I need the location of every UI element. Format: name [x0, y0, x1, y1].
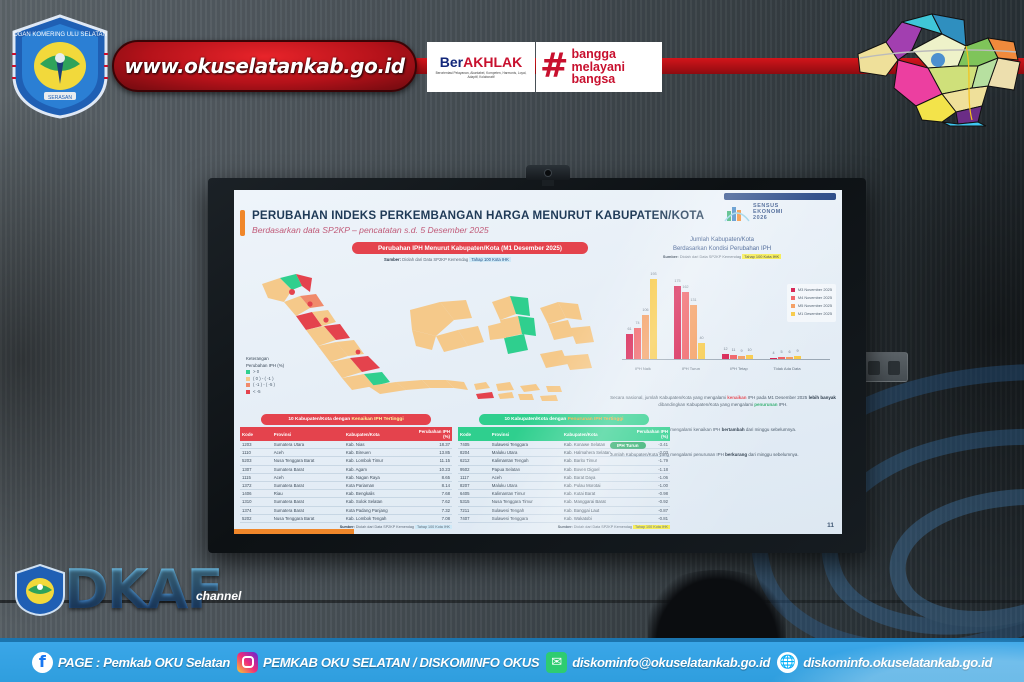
column-header: Perubahan IPH (%): [414, 427, 452, 441]
table-cell: Kab. Barito Timur: [562, 457, 632, 465]
table-cell: 8204: [458, 449, 490, 457]
table-cell: Aceh: [272, 473, 344, 481]
chart-legend-label: M4 November 2025: [798, 295, 832, 300]
chart-source-note: Sumber: Diolah dari Data SP2KP Kemendag …: [606, 254, 838, 259]
chart-legend-item: M4 November 2025: [791, 295, 832, 300]
contact-instagram[interactable]: PEMKAB OKU SELATAN / DISKOMINFO OKUS: [237, 652, 539, 673]
bar-value-label: 12: [723, 347, 727, 351]
bar-group: 1211910: [722, 354, 753, 359]
bar-value-label: 4: [772, 351, 774, 355]
right-data-table: KodeProvinsiKabupaten/KotaPerubahan IPH …: [458, 427, 670, 523]
wall-shadow-left: [0, 90, 210, 630]
chart-title: Jumlah Kabupaten/Kota Berdasarkan Kondis…: [606, 236, 838, 253]
table-row: 7405Sulawesi TenggaraKab. Konawe Selatan…: [458, 441, 670, 449]
table-cell: Kab. Nagan Raya: [344, 473, 414, 481]
legend-swatch: [246, 390, 250, 394]
table-cell: Sumatera Barat: [272, 498, 344, 506]
globe-icon: 🌐: [777, 652, 798, 673]
bar-value-label: 106: [642, 308, 648, 312]
legend-swatch: [246, 383, 250, 387]
tv-bezel: PERUBAHAN INDEKS PERKEMBANGAN HARGA MENU…: [208, 178, 866, 553]
chart-bar: 175: [674, 286, 681, 359]
indonesia-choropleth-map: [240, 268, 600, 408]
table-cell: 1374: [240, 506, 272, 514]
chart-bar: 9: [794, 356, 801, 360]
chart-bar: 6: [786, 357, 793, 360]
table-cell: Papua Selatan: [490, 465, 562, 473]
table-cell: 9502: [458, 465, 490, 473]
power-outlet: [860, 352, 908, 382]
table-cell: Kab. Boven Digoel: [562, 465, 632, 473]
table-left-caption: 10 Kabupaten/Kota dengan Kenaikan IPH Te…: [261, 414, 431, 425]
bar-value-label: 11: [732, 348, 736, 352]
website-url-text: www.okuselatankab.go.id: [124, 54, 404, 78]
chart-legend-label: M1 Desember 2025: [798, 311, 832, 316]
table-cell: Kab. Lombok Timur: [344, 457, 414, 465]
berakhlak-title: BerAKHLAK: [440, 55, 522, 69]
table-cell: 1406: [240, 490, 272, 498]
table-cell: Sumatera Utara: [272, 441, 344, 449]
sensus-ekonomi-logo: SENSUS EKONOMI 2026: [724, 194, 836, 224]
table-cell: Kab. Halmahera Selatan: [562, 449, 632, 457]
table-cell: 5202: [240, 514, 272, 522]
bar-value-label: 131: [690, 298, 696, 302]
table-cell: -1.79: [632, 457, 670, 465]
map-legend: Keterangan Perubahan IPH (%) > 0 ( 0 ) -…: [246, 356, 284, 395]
table-cell: 5315: [458, 498, 490, 506]
map-source-note: Sumber: Diolah dari Data SP2KP Kemendag …: [384, 257, 511, 262]
svg-text:OGAN KOMERING ULU SELATAN: OGAN KOMERING ULU SELATAN: [13, 32, 107, 38]
table-cell: -0.98: [632, 490, 670, 498]
chart-plot-area: M3 November 2025M4 November 2025M5 Novem…: [606, 262, 838, 380]
table-cell: 1372: [240, 481, 272, 489]
table-cell: 8.14: [414, 481, 452, 489]
top-banner: OGAN KOMERING ULU SELATAN SERASAN www.ok…: [0, 0, 1024, 128]
table-cell: 5203: [240, 457, 272, 465]
chart-bar: 10: [746, 355, 753, 359]
table-row: 1406RiauKab. Bengkalis7.68: [240, 490, 452, 498]
chart-bar: 11: [730, 355, 737, 360]
table-cell: Sulawesi Tenggara: [490, 514, 562, 522]
table-header-row: KodeProvinsiKabupaten/KotaPerubahan IPH …: [240, 427, 452, 441]
table-cell: 1307: [240, 465, 272, 473]
table-cell: -1.00: [632, 481, 670, 489]
chart-x-axis: [622, 359, 830, 360]
contact-website[interactable]: 🌐 diskominfo.okuselatankab.go.id: [777, 652, 992, 673]
chart-bar: 131: [690, 305, 697, 360]
table-cell: 1110: [240, 449, 272, 457]
table-cell: 7.32: [414, 506, 452, 514]
presentation-slide: PERUBAHAN INDEKS PERKEMBANGAN HARGA MENU…: [234, 190, 842, 534]
table-row: 6405Kalimantan TimurKab. Kutai Barat-0.9…: [458, 490, 670, 498]
table-cell: Kalimantan Timur: [490, 490, 562, 498]
dkaf-channel-label: channel: [196, 589, 241, 603]
chart-legend: M3 November 2025M4 November 2025M5 Novem…: [787, 284, 836, 322]
table-cell: Kalimantan Tengah: [490, 457, 562, 465]
bar-value-label: 9: [796, 349, 798, 353]
table-cell: Kota Padang Panjang: [344, 506, 414, 514]
bar-value-label: 6: [788, 350, 790, 354]
slide-bottom-accent: [234, 529, 354, 534]
berakhlak-logo: BerAKHLAK Berorientasi Pelayanan, Akunta…: [427, 42, 535, 92]
table-penurunan-iph: 10 Kabupaten/Kota dengan Penurunan IPH T…: [458, 414, 670, 529]
right-table-body: 7405Sulawesi TenggaraKab. Konawe Selatan…: [458, 441, 670, 522]
bottom-contact-banner: f PAGE : Pemkab OKU Selatan PEMKAB OKU S…: [0, 638, 1024, 682]
column-header: Provinsi: [490, 427, 562, 441]
dkaf-channel-watermark: DKAF channel: [8, 556, 294, 618]
table-row: 5203Nusa Tenggara BaratKab. Lombok Timur…: [240, 457, 452, 465]
chart-legend-swatch: [791, 312, 795, 316]
website-label: diskominfo.okuselatankab.go.id: [803, 655, 992, 670]
map-legend-subtitle: Perubahan IPH (%): [246, 363, 284, 370]
column-header: Kabupaten/Kota: [344, 427, 414, 441]
column-header: Perubahan IPH (%): [632, 427, 670, 441]
table-row: 5202Nusa Tenggara BaratKab. Lombok Tenga…: [240, 514, 452, 522]
table-cell: -0.92: [632, 498, 670, 506]
chart-title-line2: Berdasarkan Kondisi Perubahan IPH: [606, 245, 838, 254]
instagram-icon: [237, 652, 258, 673]
table-cell: 8207: [458, 481, 490, 489]
bar-value-label: 175: [674, 279, 680, 283]
chart-bar: 4: [770, 358, 777, 360]
table-cell: 1117: [458, 473, 490, 481]
table-cell: Sumatera Barat: [272, 465, 344, 473]
table-row: 1307Sumatera BaratKab. Agam10.23: [240, 465, 452, 473]
table-cell: Kab. Bengkalis: [344, 490, 414, 498]
table-cell: Kab. Konawe Selatan: [562, 441, 632, 449]
table-cell: 7405: [458, 441, 490, 449]
chart-bar: 12: [722, 354, 729, 359]
table-cell: Kab. Bireuen: [344, 449, 414, 457]
webcam-device: [526, 165, 570, 180]
table-cell: 6212: [458, 457, 490, 465]
table-cell: 7407: [458, 514, 490, 522]
table-row: 1117AcehKab. Barat Daya-1.06: [458, 473, 670, 481]
legend-swatch: [246, 377, 250, 381]
berakhlak-tagline: Berorientasi Pelayanan, Akuntabel, Kompe…: [430, 71, 532, 80]
chart-bar: 74: [634, 328, 641, 359]
table-cell: 1310: [240, 498, 272, 506]
logo-blue-bar: [724, 193, 836, 200]
map-title-pill: Perubahan IPH Menurut Kabupaten/Kota (M1…: [352, 242, 588, 254]
table-cell: 1203: [240, 441, 272, 449]
chart-legend-item: M1 Desember 2025: [791, 311, 832, 316]
bar-group: 6174106193: [626, 279, 657, 360]
sensus-icon: [724, 204, 750, 222]
table-cell: Kota Pariaman: [344, 481, 414, 489]
sensus-line3: 2026: [753, 216, 783, 222]
chart-bar: 106: [642, 315, 649, 359]
table-row: 8207Maluku UtaraKab. Pulau Morotai-1.00: [458, 481, 670, 489]
facebook-icon: f: [32, 652, 53, 673]
bar-value-label: 74: [635, 321, 639, 325]
table-row: 7407Sulawesi TenggaraKab. Wakatobi-0.81: [458, 514, 670, 522]
bar-value-label: 5: [780, 350, 782, 354]
table-cell: Kab. Banggai Laut: [562, 506, 632, 514]
table-cell: -1.18: [632, 465, 670, 473]
table-cell: 11.15: [414, 457, 452, 465]
table-cell: 18.37: [414, 441, 452, 449]
chart-bar: 193: [650, 279, 657, 360]
legend-swatch: [246, 370, 250, 374]
left-data-table: KodeProvinsiKabupaten/KotaPerubahan IPH …: [240, 427, 452, 523]
chart-panel: Jumlah Kabupaten/Kota Berdasarkan Kondis…: [606, 236, 838, 396]
chart-bar: 5: [778, 357, 785, 359]
slide-page-number: 11: [827, 522, 834, 529]
instagram-label: PEMKAB OKU SELATAN / DISKOMINFO OKUS: [263, 655, 539, 670]
map-legend-title: Keterangan: [246, 356, 284, 363]
person-silhouette: [648, 570, 786, 644]
table-cell: Kab. Barat Daya: [562, 473, 632, 481]
table-cell: -0.81: [632, 514, 670, 522]
table-row: 1310Sumatera BaratKab. Solok Selatan7.62: [240, 498, 452, 506]
table-cell: Nusa Tenggara Barat: [272, 457, 344, 465]
bar-value-label: 162: [682, 285, 688, 289]
table-row: 1374Sumatera BaratKota Padang Panjang7.3…: [240, 506, 452, 514]
table-row: 8204Maluku UtaraKab. Halmahera Selatan-2…: [458, 449, 670, 457]
district-map-graphic: [846, 2, 1024, 128]
bangga-line3: bangsa: [572, 73, 626, 86]
table-cell: 6405: [458, 490, 490, 498]
table-cell: Sumatera Barat: [272, 506, 344, 514]
chart-legend-swatch: [791, 304, 795, 308]
table-cell: 8.65: [414, 473, 452, 481]
table-cell: -2.03: [632, 449, 670, 457]
chart-legend-label: M5 November 2025: [798, 303, 832, 308]
contact-facebook[interactable]: f PAGE : Pemkab OKU Selatan: [32, 652, 230, 673]
column-header: Kode: [458, 427, 490, 441]
bar-value-label: 193: [650, 272, 656, 276]
table-cell: Aceh: [272, 449, 344, 457]
table-row: 5315Nusa Tenggara TimurKab. Manggarai Ba…: [458, 498, 670, 506]
slide-title: PERUBAHAN INDEKS PERKEMBANGAN HARGA MENU…: [252, 209, 704, 222]
table-cell: Maluku Utara: [490, 449, 562, 457]
table-cell: Kab. Solok Selatan: [344, 498, 414, 506]
table-cell: -0.87: [632, 506, 670, 514]
table-row: 1110AcehKab. Bireuen13.85: [240, 449, 452, 457]
chart-title-line1: Jumlah Kabupaten/Kota: [606, 236, 838, 245]
table-cell: Kab. Pulau Morotai: [562, 481, 632, 489]
left-table-body: 1203Sumatera UtaraKab. Nias18.371110Aceh…: [240, 441, 452, 522]
facebook-label: PAGE : Pemkab OKU Selatan: [58, 655, 230, 670]
slide-subtitle: Berdasarkan data SP2KP – pencatatan s.d.…: [252, 225, 489, 235]
hash-icon: #: [540, 53, 569, 80]
contact-email[interactable]: ✉ diskominfo@okuselatankab.go.id: [546, 652, 770, 673]
column-header: Kabupaten/Kota: [562, 427, 632, 441]
bar-value-label: 10: [747, 348, 751, 352]
table-cell: -1.06: [632, 473, 670, 481]
chart-bar: 9: [738, 356, 745, 360]
table-cell: Kab. Nias: [344, 441, 414, 449]
table-cell: Riau: [272, 490, 344, 498]
bar-group: 4569: [770, 356, 801, 360]
column-header: Provinsi: [272, 427, 344, 441]
table-cell: 7211: [458, 506, 490, 514]
chart-bar: 40: [698, 343, 705, 360]
column-header: Kode: [240, 427, 272, 441]
table-cell: 13.85: [414, 449, 452, 457]
legend-item: < -5: [246, 389, 284, 395]
table-cell: Maluku Utara: [490, 481, 562, 489]
chart-legend-swatch: [791, 296, 795, 300]
table-cell: Aceh: [490, 473, 562, 481]
legend-label: < -5: [253, 389, 261, 395]
table-cell: 1115: [240, 473, 272, 481]
table-cell: 7.08: [414, 514, 452, 522]
mail-icon: ✉: [546, 652, 567, 673]
title-accent-bar: [240, 210, 245, 236]
bangga-line1: bangga: [572, 48, 626, 61]
table-cell: Kab. Kutai Barat: [562, 490, 632, 498]
table-kenaikan-iph: 10 Kabupaten/Kota dengan Kenaikan IPH Te…: [240, 414, 452, 529]
chart-legend-item: M5 November 2025: [791, 303, 832, 308]
table-header-row: KodeProvinsiKabupaten/KotaPerubahan IPH …: [458, 427, 670, 441]
narrative-intro: Secara nasional, jumlah Kabupaten/Kota y…: [610, 395, 836, 409]
table-cell: 7.68: [414, 490, 452, 498]
table-right-caption: 10 Kabupaten/Kota dengan Penurunan IPH T…: [479, 414, 649, 425]
table-cell: Nusa Tenggara Barat: [272, 514, 344, 522]
chart-legend-item: M3 November 2025: [791, 287, 832, 292]
website-url-pill[interactable]: www.okuselatankab.go.id: [112, 40, 417, 92]
dkaf-crest-icon: [14, 564, 66, 616]
table-right-source: Sumber: Diolah dari Data SP2KP Kemendag …: [458, 525, 670, 529]
webcam-stand: [542, 180, 554, 186]
table-row: 1372Sumatera BaratKota Pariaman8.14: [240, 481, 452, 489]
tv-screen: PERUBAHAN INDEKS PERKEMBANGAN HARGA MENU…: [234, 190, 842, 534]
table-cell: Kab. Agam: [344, 465, 414, 473]
table-cell: Sumatera Barat: [272, 481, 344, 489]
chart-bar: 162: [682, 292, 689, 360]
table-cell: -3.41: [632, 441, 670, 449]
table-cell: 7.62: [414, 498, 452, 506]
table-row: 7211Sulawesi TengahKab. Banggai Laut-0.8…: [458, 506, 670, 514]
chart-category-label: Tidak Ada Data: [756, 366, 818, 371]
table-cell: Sulawesi Tengah: [490, 506, 562, 514]
table-cell: Sulawesi Tenggara: [490, 441, 562, 449]
bar-group: 17516213140: [674, 286, 705, 359]
table-cell: Nusa Tenggara Timur: [490, 498, 562, 506]
bar-value-label: 61: [627, 327, 631, 331]
email-label: diskominfo@okuselatankab.go.id: [572, 655, 770, 670]
chart-bar: 61: [626, 334, 633, 360]
table-cell: Kab. Manggarai Barat: [562, 498, 632, 506]
bar-value-label: 40: [699, 336, 703, 340]
regency-crest-logo: OGAN KOMERING ULU SELATAN SERASAN: [10, 14, 110, 119]
bar-value-label: 9: [740, 349, 742, 353]
svg-text:SERASAN: SERASAN: [48, 95, 72, 101]
chart-legend-swatch: [791, 288, 795, 292]
table-row: 6212Kalimantan TengahKab. Barito Timur-1…: [458, 457, 670, 465]
chart-legend-label: M3 November 2025: [798, 287, 832, 292]
table-row: 9502Papua SelatanKab. Boven Digoel-1.18: [458, 465, 670, 473]
table-row: 1203Sumatera UtaraKab. Nias18.37: [240, 441, 452, 449]
table-cell: Kab. Wakatobi: [562, 514, 632, 522]
table-cell: Kab. Lombok Tengah: [344, 514, 414, 522]
bangga-melayani-bangsa-logo: # bangga melayani bangsa: [536, 42, 662, 92]
table-cell: 10.23: [414, 465, 452, 473]
television-display: PERUBAHAN INDEKS PERKEMBANGAN HARGA MENU…: [208, 178, 866, 553]
table-row: 1115AcehKab. Nagan Raya8.65: [240, 473, 452, 481]
